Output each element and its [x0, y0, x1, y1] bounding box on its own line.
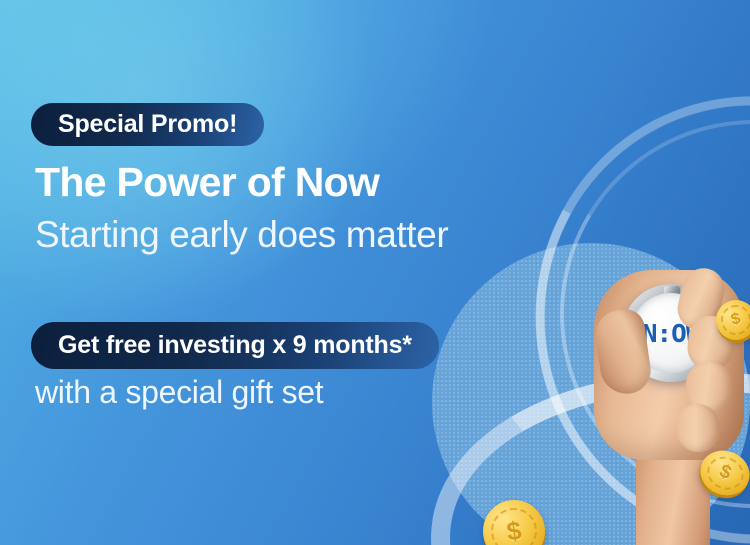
page-subtitle: Starting early does matter	[35, 215, 448, 256]
banner-copy: Special Promo! The Power of Now Starting…	[0, 0, 750, 545]
status-badge: Special Promo!	[31, 103, 264, 146]
page-title: The Power of Now	[35, 161, 379, 204]
promo-banner: N:OW $ $ $ Special Promo! The Power of N…	[0, 0, 750, 545]
offer-badge: Get free investing x 9 months*	[31, 322, 439, 369]
offer-tagline: with a special gift set	[35, 374, 323, 411]
